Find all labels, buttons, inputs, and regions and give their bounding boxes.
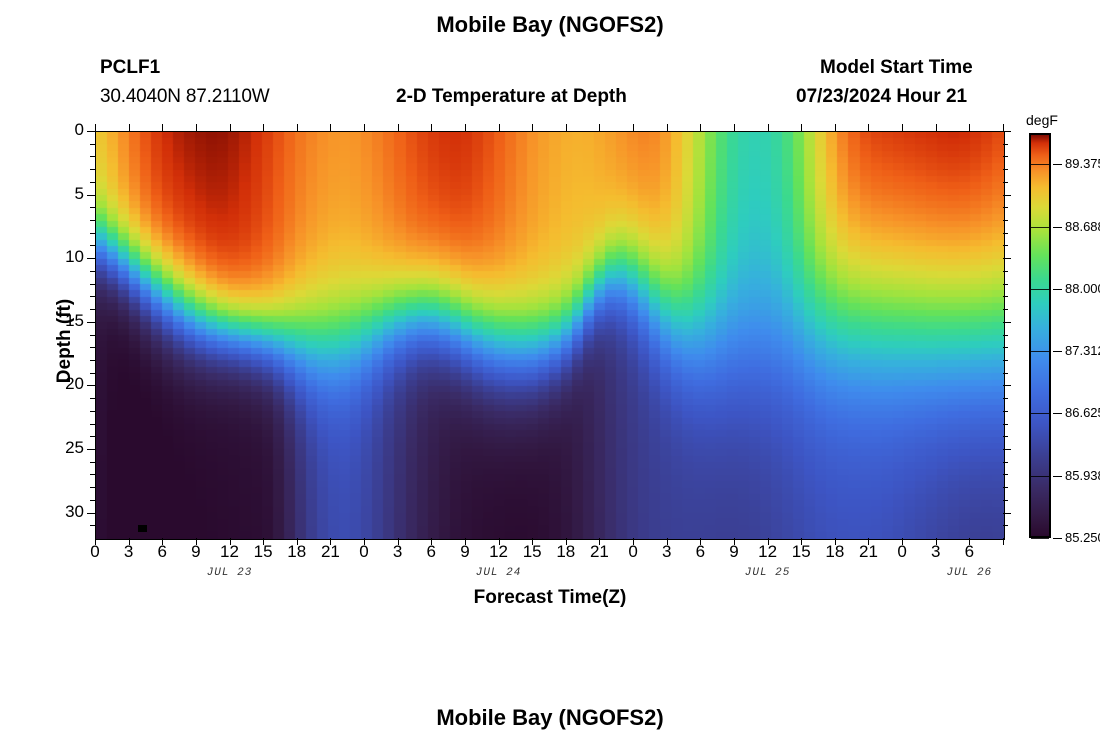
y-axis-minor-tick-right [1003,207,1008,208]
y-axis-minor-tick-right [1003,436,1008,437]
y-axis-minor-tick-right [1003,373,1008,374]
y-axis-tick-right [1003,513,1011,514]
y-axis-minor-tick [90,525,95,526]
y-axis-minor-tick [90,271,95,272]
x-axis-tick-top [768,124,769,131]
y-axis-minor-tick-right [1003,525,1008,526]
x-axis-tick-top [297,124,298,131]
y-axis-tick-right [1003,258,1011,259]
y-axis-minor-tick-right [1003,245,1008,246]
x-axis-tick-top [667,124,668,131]
y-axis-minor-tick-right [1003,182,1008,183]
colorbar-tick-label: 85.250 [1065,530,1100,545]
station-id-label: PCLF1 [100,57,160,79]
x-axis-tick-top [801,124,802,131]
x-axis-tick-top [868,124,869,131]
x-axis-tick-top [1003,124,1004,131]
y-axis-minor-tick-right [1003,424,1008,425]
colorbar-tick [1053,538,1062,539]
x-axis-day-label: JUL 24 [454,567,544,579]
x-axis-title: Forecast Time(Z) [0,587,1100,609]
y-axis-minor-tick [90,411,95,412]
y-axis-tick-label: 25 [44,438,84,458]
y-axis-minor-tick-right [1003,296,1008,297]
y-axis-minor-tick-right [1003,220,1008,221]
y-axis-minor-tick [90,462,95,463]
y-axis-minor-tick-right [1003,398,1008,399]
y-axis-minor-tick [90,424,95,425]
colorbar-tick-label: 88.688 [1065,219,1100,234]
chart-subtitle: 2-D Temperature at Depth [396,86,627,108]
x-axis-day-label: JUL 25 [723,567,813,579]
colorbar-tick-label: 85.938 [1065,468,1100,483]
temperature-heatmap-canvas [96,132,1004,539]
y-axis-minor-tick [90,144,95,145]
y-axis-minor-tick [90,245,95,246]
y-axis-tick [87,513,95,514]
y-axis-minor-tick [90,207,95,208]
y-axis-minor-tick-right [1003,335,1008,336]
x-axis-tick-top [902,124,903,131]
x-axis-tick-top [330,124,331,131]
x-axis-tick-top [969,124,970,131]
y-axis-minor-tick [90,373,95,374]
y-axis-minor-tick [90,169,95,170]
colorbar-separator [1031,164,1049,165]
x-axis-tick-top [700,124,701,131]
y-axis-minor-tick-right [1003,411,1008,412]
y-axis-tick-right [1003,385,1011,386]
y-axis-minor-tick [90,220,95,221]
y-axis-minor-tick-right [1003,233,1008,234]
x-axis-tick-top [532,124,533,131]
y-axis-minor-tick-right [1003,156,1008,157]
x-axis-tick-top [230,124,231,131]
colorbar-tick [1053,227,1062,228]
y-axis-tick-label: 30 [44,502,84,522]
y-axis-minor-tick-right [1003,271,1008,272]
colorbar-separator [1031,538,1049,539]
x-axis-tick-top [263,124,264,131]
y-axis-minor-tick-right [1003,347,1008,348]
y-axis-minor-tick-right [1003,169,1008,170]
colorbar-unit-label: degF [1026,112,1058,128]
station-position-marker [138,525,147,532]
y-axis-tick-right [1003,131,1011,132]
y-axis-tick [87,322,95,323]
x-axis-tick-top [599,124,600,131]
x-axis-tick [1003,538,1004,545]
colorbar-tick-label: 88.000 [1065,281,1100,296]
y-axis-minor-tick [90,436,95,437]
y-axis-minor-tick-right [1003,284,1008,285]
x-axis-tick-top [835,124,836,131]
x-axis-tick-top [162,124,163,131]
x-axis-tick-top [633,124,634,131]
colorbar-separator [1031,476,1049,477]
colorbar-tick [1053,351,1062,352]
y-axis-title: Depth (ft) [54,261,76,421]
y-axis-minor-tick-right [1003,462,1008,463]
colorbar-tick [1053,476,1062,477]
y-axis-minor-tick [90,398,95,399]
colorbar-separator [1031,227,1049,228]
y-axis-minor-tick-right [1003,309,1008,310]
y-axis-minor-tick-right [1003,487,1008,488]
y-axis-minor-tick [90,309,95,310]
y-axis-minor-tick-right [1003,474,1008,475]
y-axis-minor-tick [90,474,95,475]
y-axis-tick [87,449,95,450]
y-axis-tick-right [1003,322,1011,323]
x-axis-tick-top [734,124,735,131]
x-axis-tick-top [364,124,365,131]
y-axis-tick [87,385,95,386]
colorbar-separator [1031,413,1049,414]
x-axis-tick-top [936,124,937,131]
y-axis-tick-label: 5 [44,184,84,204]
colorbar-tick [1053,164,1062,165]
colorbar-tick-label: 87.312 [1065,343,1100,358]
colorbar-separator [1031,289,1049,290]
colorbar[interactable] [1029,133,1051,538]
y-axis-tick-right [1003,195,1011,196]
x-axis-tick-top [196,124,197,131]
y-axis-tick [87,195,95,196]
colorbar-tick [1053,289,1062,290]
x-axis-tick-top [566,124,567,131]
x-axis-tick-top [465,124,466,131]
x-axis-tick-label: 6 [949,542,989,562]
y-axis-tick-label: 0 [44,120,84,140]
y-axis-minor-tick [90,296,95,297]
y-axis-minor-tick [90,335,95,336]
x-axis-tick-top [129,124,130,131]
x-axis-tick-top [398,124,399,131]
y-axis-minor-tick [90,284,95,285]
y-axis-minor-tick [90,182,95,183]
y-axis-minor-tick [90,156,95,157]
colorbar-tick-label: 86.625 [1065,405,1100,420]
x-axis-day-label: JUL 23 [185,567,275,579]
y-axis-minor-tick [90,233,95,234]
x-axis-tick-top [431,124,432,131]
model-start-time-label: Model Start Time [820,57,973,79]
colorbar-tick-label: 89.375 [1065,156,1100,171]
y-axis-minor-tick [90,360,95,361]
heatmap-plot-area [95,131,1005,540]
model-start-time-value: 07/23/2024 Hour 21 [796,86,967,108]
y-axis-minor-tick [90,487,95,488]
y-axis-minor-tick-right [1003,500,1008,501]
y-axis-tick [87,258,95,259]
y-axis-minor-tick-right [1003,144,1008,145]
x-axis-tick-top [95,124,96,131]
y-axis-minor-tick-right [1003,360,1008,361]
page-title: Mobile Bay (NGOFS2) [0,12,1100,38]
y-axis-minor-tick [90,500,95,501]
y-axis-minor-tick [90,347,95,348]
x-axis-day-label: JUL 26 [924,567,1014,579]
y-axis-tick-right [1003,449,1011,450]
station-coordinates-label: 30.4040N 87.2110W [100,86,269,108]
y-axis-tick [87,131,95,132]
bottom-title: Mobile Bay (NGOFS2) [0,705,1100,731]
colorbar-tick [1053,413,1062,414]
x-axis-tick-top [499,124,500,131]
colorbar-separator [1031,351,1049,352]
